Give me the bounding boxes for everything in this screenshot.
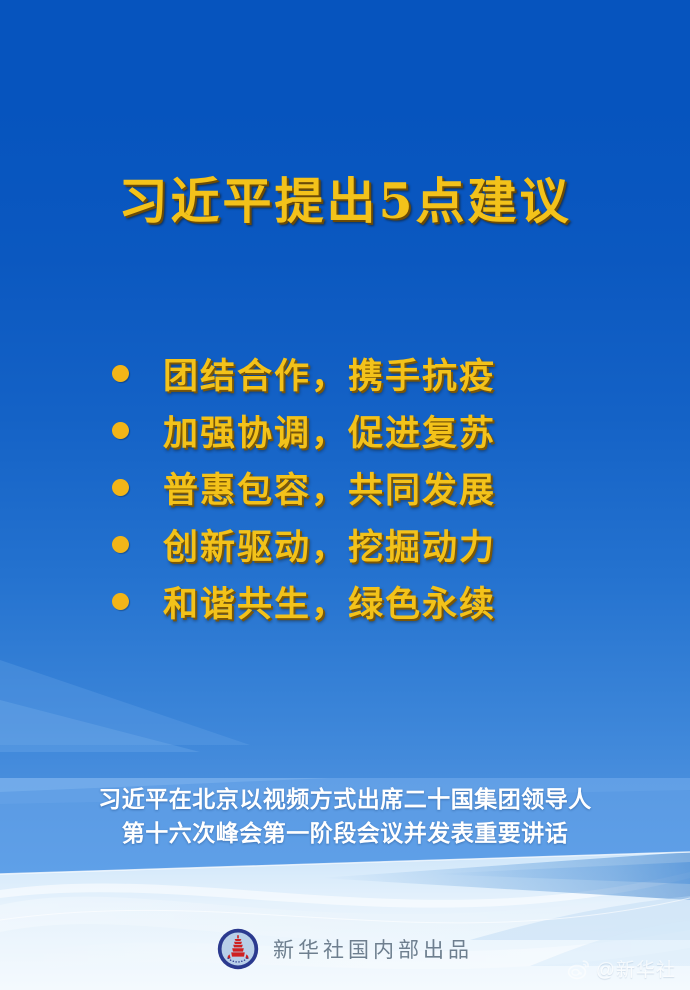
bullet-dot-icon	[112, 479, 129, 496]
bullet-dot-icon	[112, 365, 129, 382]
weibo-watermark: @新华社	[567, 955, 676, 982]
list-item: 和谐共生，绿色永续	[0, 573, 690, 630]
list-item: 创新驱动，挖掘动力	[0, 516, 690, 573]
list-item-label: 团结合作，携手抗疫	[163, 348, 496, 399]
list-item: 普惠包容，共同发展	[0, 459, 690, 516]
title-container: 习近平提出5点建议	[0, 176, 690, 227]
caption-block: 习近平在北京以视频方式出席二十国集团领导人 第十六次峰会第一阶段会议并发表重要讲…	[0, 782, 690, 850]
caption-line-2: 第十六次峰会第一阶段会议并发表重要讲话	[0, 816, 690, 850]
caption-line-1: 习近平在北京以视频方式出席二十国集团领导人	[0, 782, 690, 816]
bullet-dot-icon	[112, 422, 129, 439]
list-item-label: 普惠包容，共同发展	[163, 462, 496, 513]
list-item: 团结合作，携手抗疫	[0, 345, 690, 402]
page-title: 习近平提出5点建议	[118, 176, 571, 227]
list-item-label: 加强协调，促进复苏	[163, 405, 496, 456]
list-item: 加强协调，促进复苏	[0, 402, 690, 459]
bullet-dot-icon	[112, 593, 129, 610]
weibo-icon	[567, 957, 591, 981]
list-item-label: 创新驱动，挖掘动力	[163, 519, 496, 570]
list-item-label: 和谐共生，绿色永续	[163, 576, 496, 627]
xinhua-agency-logo-icon	[217, 928, 259, 970]
poster-root: 习近平提出5点建议 团结合作，携手抗疫 加强协调，促进复苏 普惠包容，共同发展 …	[0, 0, 690, 990]
recommendation-list: 团结合作，携手抗疫 加强协调，促进复苏 普惠包容，共同发展 创新驱动，挖掘动力 …	[0, 345, 690, 630]
bullet-dot-icon	[112, 536, 129, 553]
weibo-handle-label: @新华社	[596, 955, 676, 982]
footer-credit-label: 新华社国内部出品	[273, 934, 473, 964]
